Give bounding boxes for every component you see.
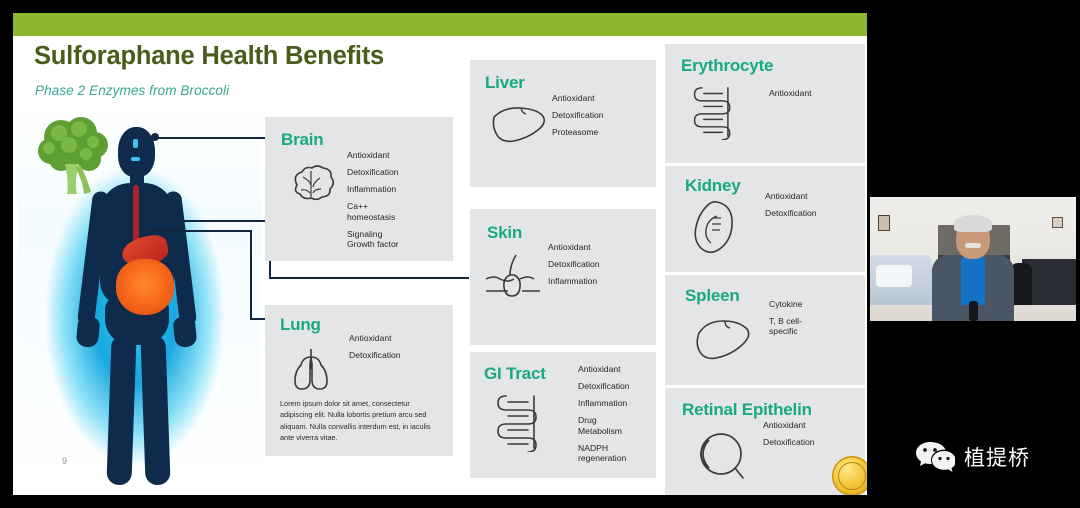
list-item: Antioxidant bbox=[552, 93, 604, 103]
card-skin[interactable]: Skin Antioxidant Detoxification Inflamma… bbox=[470, 209, 656, 345]
connector-skin-horizontal bbox=[269, 277, 469, 279]
screen-recording-frame: Sulforaphane Health Benefits Phase 2 Enz… bbox=[0, 0, 1080, 508]
kidney-icon bbox=[687, 198, 739, 256]
card-spleen-items: Cytokine T, B cell- specific bbox=[769, 299, 802, 343]
card-brain-items: Antioxidant Detoxification Inflammation … bbox=[347, 150, 399, 256]
list-item: Inflammation bbox=[578, 398, 630, 408]
list-item: Antioxidant bbox=[765, 191, 817, 201]
card-erythrocyte-items: Antioxidant bbox=[769, 88, 812, 105]
card-kidney[interactable]: Kidney Antioxidant Detoxification bbox=[665, 166, 865, 272]
card-retinal-epithelin-title: Retinal Epithelin bbox=[682, 400, 812, 420]
list-item: Inflammation bbox=[548, 276, 600, 286]
liver-icon bbox=[488, 103, 548, 147]
list-item: Antioxidant bbox=[763, 420, 815, 430]
body-head bbox=[118, 127, 155, 177]
body-left-leg bbox=[106, 335, 136, 486]
card-spleen-title: Spleen bbox=[685, 286, 740, 306]
participant-video-thumbnail[interactable] bbox=[870, 197, 1076, 321]
connector-skin-stub bbox=[169, 220, 271, 222]
presentation-slide: Sulforaphane Health Benefits Phase 2 Enz… bbox=[13, 13, 867, 495]
card-kidney-title: Kidney bbox=[685, 176, 740, 196]
list-item: Signaling Growth factor bbox=[347, 229, 399, 249]
video-speaker-shirt bbox=[961, 255, 985, 305]
brain-highlight bbox=[133, 139, 138, 148]
card-lung-title: Lung bbox=[280, 315, 321, 335]
list-item: Cytokine bbox=[769, 299, 802, 309]
list-item: Ca++ homeostasis bbox=[347, 201, 399, 221]
video-speaker-mustache bbox=[965, 243, 981, 248]
slide-page-number: 9 bbox=[62, 456, 67, 466]
watermark-text: 植提桥 bbox=[964, 442, 1030, 472]
broccoli-image bbox=[31, 109, 123, 201]
connector-brain-horizontal bbox=[154, 137, 269, 139]
list-item: Detoxification bbox=[578, 381, 630, 391]
gold-seal-inner-ring bbox=[838, 462, 866, 490]
list-item: Detoxification bbox=[552, 110, 604, 120]
list-item: Antioxidant bbox=[548, 242, 600, 252]
card-brain-title: Brain bbox=[281, 130, 323, 150]
spleen-icon bbox=[691, 317, 751, 365]
card-skin-title: Skin bbox=[487, 223, 522, 243]
video-pillow bbox=[876, 265, 912, 287]
slide-top-accent-bar bbox=[13, 13, 867, 36]
card-erythrocyte[interactable]: Erythrocyte Antioxidant bbox=[665, 44, 865, 163]
list-item: Detoxification bbox=[548, 259, 600, 269]
video-wall-picture-left bbox=[878, 215, 890, 231]
intestine-organ bbox=[116, 259, 174, 315]
list-item: NADPH regeneration bbox=[578, 443, 630, 463]
list-item: T, B cell- specific bbox=[769, 316, 802, 336]
page-title: Sulforaphane Health Benefits bbox=[34, 42, 384, 71]
video-speaker-hair bbox=[954, 215, 992, 232]
human-body-illustration bbox=[17, 101, 261, 495]
body-right-leg bbox=[140, 335, 170, 486]
card-retinal-epithelin-items: Antioxidant Detoxification bbox=[763, 420, 815, 454]
card-gi-tract-title: GI Tract bbox=[484, 364, 546, 384]
list-item: Detoxification bbox=[349, 350, 401, 360]
card-liver[interactable]: Liver Antioxidant Detoxification Proteas… bbox=[470, 60, 656, 187]
list-item: Inflammation bbox=[347, 184, 399, 194]
list-item: Drug Metabolism bbox=[578, 415, 630, 435]
card-lung-items: Antioxidant Detoxification bbox=[349, 333, 401, 367]
list-item: Detoxification bbox=[765, 208, 817, 218]
video-wall-picture-right bbox=[1052, 217, 1063, 228]
list-item: Antioxidant bbox=[349, 333, 401, 343]
list-item: Antioxidant bbox=[578, 364, 630, 374]
connector-lung-stub bbox=[146, 230, 252, 232]
wechat-icon bbox=[915, 440, 955, 474]
esophagus-organ bbox=[133, 185, 139, 245]
intestine-icon bbox=[492, 392, 546, 452]
list-item: Detoxification bbox=[347, 167, 399, 177]
card-liver-items: Antioxidant Detoxification Proteasome bbox=[552, 93, 604, 144]
card-kidney-items: Antioxidant Detoxification bbox=[765, 191, 817, 225]
card-brain[interactable]: Brain Antioxidant Detoxification Inflamm… bbox=[265, 117, 453, 261]
gold-seal-badge bbox=[832, 456, 867, 495]
card-spleen[interactable]: Spleen Cytokine T, B cell- specific bbox=[665, 275, 865, 385]
body-right-hand bbox=[172, 316, 197, 348]
lungs-icon bbox=[285, 345, 337, 393]
card-erythrocyte-title: Erythrocyte bbox=[681, 56, 773, 76]
video-microphone bbox=[969, 301, 978, 321]
list-item: Antioxidant bbox=[347, 150, 399, 160]
intestine-icon bbox=[689, 84, 739, 140]
list-item: Antioxidant bbox=[769, 88, 812, 98]
page-subtitle: Phase 2 Enzymes from Broccoli bbox=[35, 83, 229, 98]
brain-icon bbox=[287, 165, 335, 205]
card-skin-items: Antioxidant Detoxification Inflammation bbox=[548, 242, 600, 293]
connector-lung-vertical bbox=[250, 230, 252, 320]
connector-brain-dot bbox=[151, 133, 159, 141]
card-lung[interactable]: Lung Antioxidant Detoxification Lorem ip… bbox=[265, 305, 453, 456]
card-lung-body-text: Lorem ipsum dolor sit amet, consectetur … bbox=[280, 398, 440, 443]
eye-icon bbox=[691, 430, 747, 482]
card-liver-title: Liver bbox=[485, 73, 525, 93]
skin-hair-follicle-icon bbox=[482, 253, 544, 301]
card-gi-tract[interactable]: GI Tract Antioxidant Detoxification Infl… bbox=[470, 352, 656, 478]
list-item: Proteasome bbox=[552, 127, 604, 137]
list-item: Detoxification bbox=[763, 437, 815, 447]
card-gi-tract-items: Antioxidant Detoxification Inflammation … bbox=[578, 364, 630, 470]
mouth-highlight bbox=[131, 157, 140, 161]
watermark: 植提桥 bbox=[915, 440, 1030, 474]
